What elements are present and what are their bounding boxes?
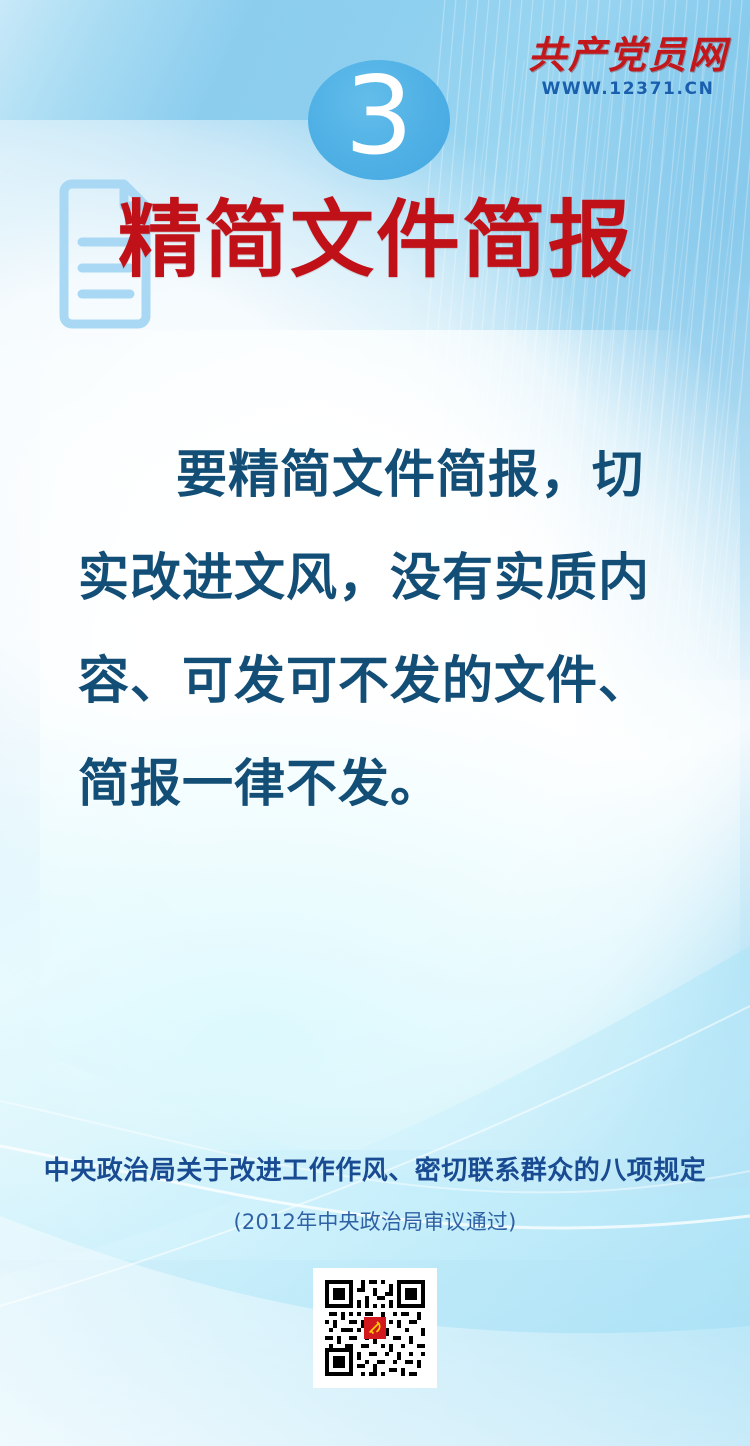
- site-logo-name: 共产党员网: [528, 36, 728, 74]
- item-number-badge: 3: [308, 60, 450, 180]
- site-logo-url: WWW.12371.CN: [528, 81, 728, 98]
- body-line: 简报一律不发。: [78, 733, 678, 836]
- body-line: 要精简文件简报，切: [78, 424, 678, 527]
- poster-canvas: 共产党员网 WWW.12371.CN 3 精简文件简报 要精简文件简报，切 实改…: [0, 0, 750, 1446]
- footer: 中央政治局关于改进工作作风、密切联系群众的八项规定 (2012年中央政治局审议通…: [0, 1150, 750, 1236]
- footer-regulation-title: 中央政治局关于改进工作作风、密切联系群众的八项规定: [0, 1150, 750, 1187]
- page-title: 精简文件简报: [118, 196, 634, 284]
- item-number: 3: [345, 63, 414, 171]
- qr-matrix: [321, 1276, 429, 1380]
- body-line: 实改进文风，没有实质内: [78, 527, 678, 630]
- body-paragraph: 要精简文件简报，切 实改进文风，没有实质内 容、可发可不发的文件、 简报一律不发…: [78, 424, 678, 836]
- hammer-sickle-icon: [364, 1317, 386, 1339]
- site-logo: 共产党员网 WWW.12371.CN: [528, 36, 728, 98]
- footer-regulation-date: (2012年中央政治局审议通过): [0, 1206, 750, 1236]
- qr-code[interactable]: [313, 1268, 437, 1388]
- body-line: 容、可发可不发的文件、: [78, 630, 678, 733]
